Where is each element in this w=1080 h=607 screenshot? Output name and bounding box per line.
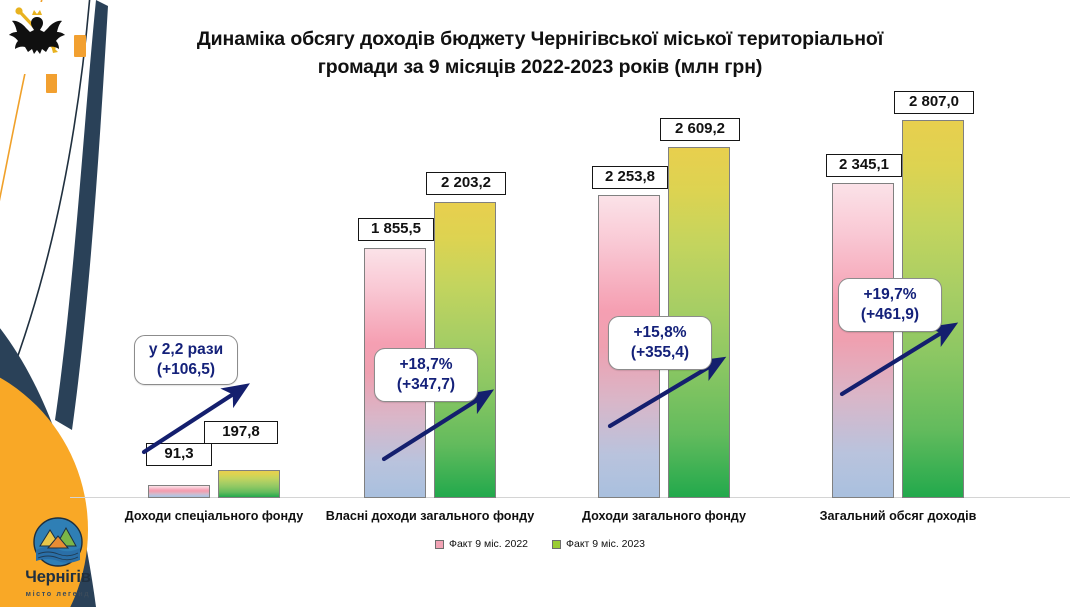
city-logo-tagline: місто легенд <box>10 589 106 598</box>
bar-2023-group-1[interactable] <box>218 470 280 498</box>
annotation-line2-group-1: (+106,5) <box>157 360 215 380</box>
chart-plot-area: 91,3 197,8 у 2,2 рази (+106,5) 1 855,5 2… <box>70 86 1070 498</box>
annotation-line1-group-3: +15,8% <box>633 323 686 343</box>
data-label-2023-group-4: 2 807,0 <box>894 91 974 114</box>
data-label-2023-group-3: 2 609,2 <box>660 118 740 141</box>
category-label-2: Власні доходи загального фонду <box>300 509 560 523</box>
legend-item-2022[interactable]: Факт 9 міс. 2022 <box>435 538 528 550</box>
city-logo: Чернігів місто легенд <box>10 516 106 604</box>
annotation-callout-group-4: +19,7% (+461,9) <box>838 278 942 332</box>
page-title-line2: громади за 9 місяців 2022-2023 років (мл… <box>140 54 940 82</box>
bar-2022-group-1[interactable] <box>148 485 210 498</box>
category-label-4: Загальний обсяг доходів <box>768 509 1028 523</box>
slide-canvas: Чернігів місто легенд Динаміка обсягу до… <box>0 0 1080 607</box>
page-title: Динаміка обсягу доходів бюджету Чернігів… <box>140 26 940 81</box>
bar-2022-group-4[interactable] <box>832 183 894 498</box>
chart-legend: Факт 9 міс. 2022 Факт 9 міс. 2023 <box>0 538 1080 550</box>
annotation-line1-group-2: +18,7% <box>399 355 452 375</box>
annotation-callout-group-3: +15,8% (+355,4) <box>608 316 712 370</box>
annotation-line2-group-3: (+355,4) <box>631 343 689 363</box>
category-label-3: Доходи загального фонду <box>534 509 794 523</box>
annotation-line1-group-4: +19,7% <box>863 285 916 305</box>
data-label-2022-group-2: 1 855,5 <box>358 218 434 241</box>
page-title-line1: Динаміка обсягу доходів бюджету Чернігів… <box>140 26 940 54</box>
legend-label-2022: Факт 9 міс. 2022 <box>449 538 528 550</box>
legend-label-2023: Факт 9 міс. 2023 <box>566 538 645 550</box>
annotation-line2-group-2: (+347,7) <box>397 375 455 395</box>
legend-item-2023[interactable]: Факт 9 міс. 2023 <box>552 538 645 550</box>
data-label-2022-group-4: 2 345,1 <box>826 154 902 177</box>
annotation-callout-group-2: +18,7% (+347,7) <box>374 348 478 402</box>
chernihiv-coat-of-arms-icon <box>6 2 70 74</box>
annotation-callout-group-1: у 2,2 рази (+106,5) <box>134 335 238 385</box>
category-axis-labels: Доходи спеціального фонду Власні доходи … <box>70 509 1070 529</box>
data-label-2023-group-2: 2 203,2 <box>426 172 506 195</box>
data-label-2022-group-1: 91,3 <box>146 443 212 466</box>
data-label-2022-group-3: 2 253,8 <box>592 166 668 189</box>
annotation-line1-group-1: у 2,2 рази <box>149 340 223 360</box>
legend-swatch-2022 <box>435 540 444 549</box>
city-emblem-icon <box>10 516 106 568</box>
city-logo-name: Чернігів <box>10 569 106 586</box>
annotation-line2-group-4: (+461,9) <box>861 305 919 325</box>
data-label-2023-group-1: 197,8 <box>204 421 278 444</box>
legend-swatch-2023 <box>552 540 561 549</box>
